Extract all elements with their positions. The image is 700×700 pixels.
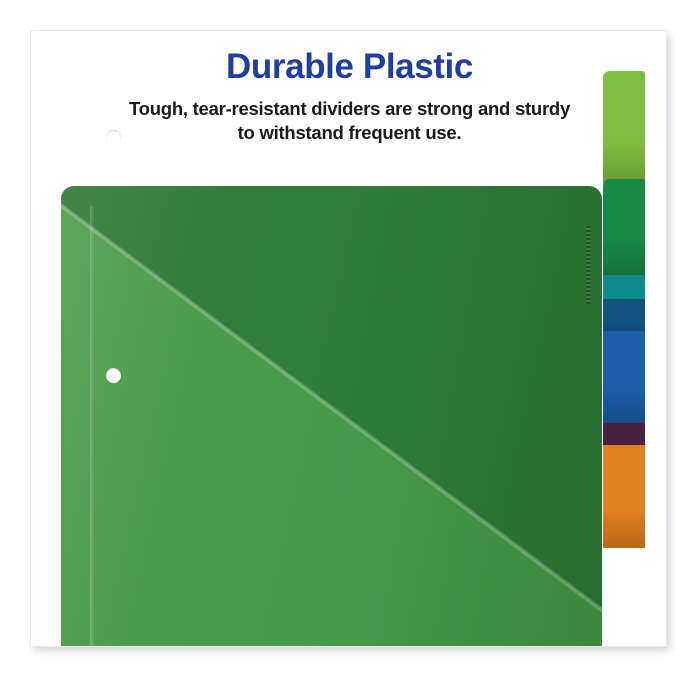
sheet-left-crease xyxy=(90,206,94,647)
tab-blue xyxy=(603,331,645,423)
punch-hole-bottom xyxy=(106,368,121,383)
perforation-seam xyxy=(586,226,591,304)
punch-hole-top xyxy=(106,130,121,145)
product-image-canvas: Durable Plastic Tough, tear-resistant di… xyxy=(0,0,700,700)
tab-orange xyxy=(603,445,645,548)
tab-lime xyxy=(603,71,645,183)
tab-green xyxy=(603,179,645,275)
product-photo xyxy=(31,31,667,647)
product-card: Durable Plastic Tough, tear-resistant di… xyxy=(30,30,667,647)
